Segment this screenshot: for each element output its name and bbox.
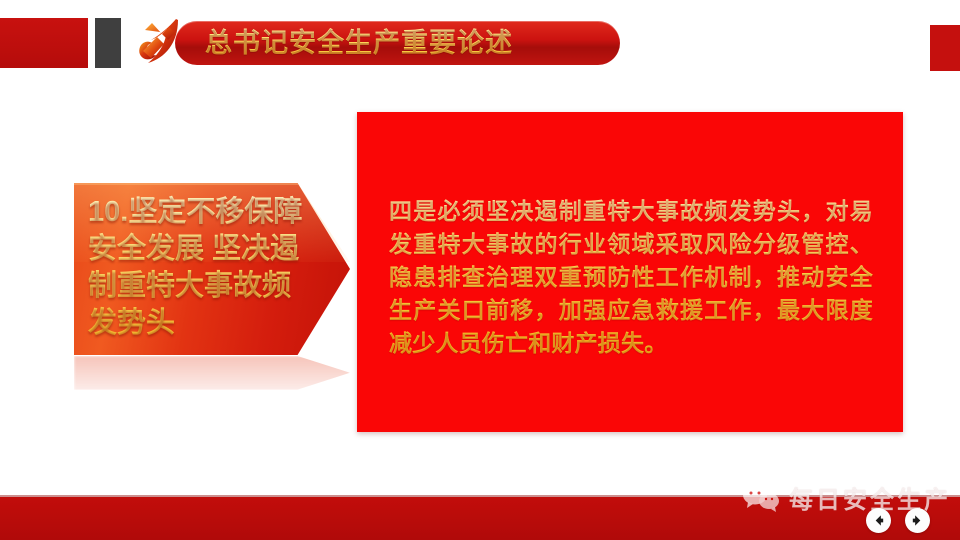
content-panel: 四是必须坚决遏制重特大事故频发势头，对易发重特大事故的行业领域采取风险分级管控、…	[357, 112, 903, 432]
content-body-text: 四是必须坚决遏制重特大事故频发势头，对易发重特大事故的行业领域采取风险分级管控、…	[389, 195, 873, 360]
slide-navigation	[866, 508, 930, 533]
arrow-banner-reflection	[74, 356, 350, 416]
page-title: 总书记安全生产重要论述	[205, 24, 513, 62]
next-slide-button[interactable]	[905, 508, 930, 533]
footer-band	[0, 497, 960, 540]
section-arrow-banner: 10.坚定不移保障安全发展 坚决遏制重特大事故频发势头	[74, 183, 350, 355]
section-heading-text: 10.坚定不移保障安全发展 坚决遏制重特大事故频发势头	[88, 194, 306, 342]
prev-slide-button[interactable]	[866, 508, 891, 533]
header-red-block-right	[930, 25, 960, 71]
presentation-slide: 总书记安全生产重要论述 10.坚定不移保障安全发展 坚决遏制重特大事故频发势头 …	[0, 0, 960, 540]
header-gray-bar	[95, 18, 121, 68]
arrow-right-icon	[910, 513, 925, 528]
arrow-left-icon	[871, 513, 886, 528]
party-hammer-sickle-emblem-icon	[131, 13, 193, 73]
header-red-block-left	[0, 18, 88, 68]
